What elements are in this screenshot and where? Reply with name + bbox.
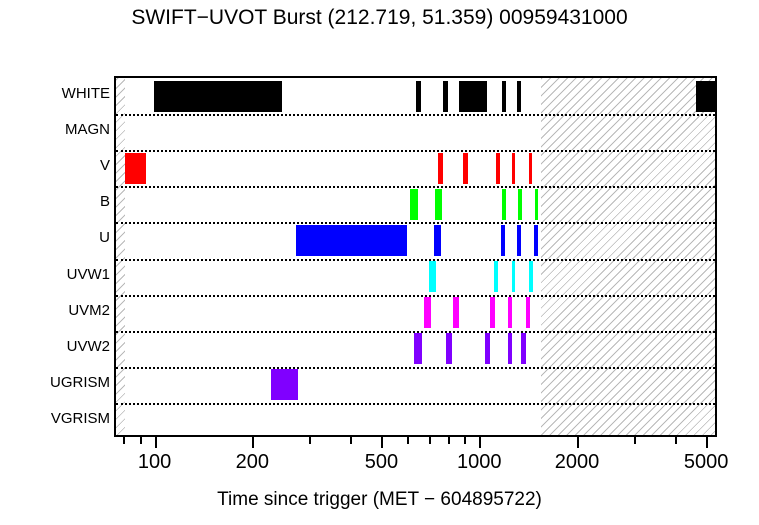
data-bar — [508, 333, 512, 364]
data-bar — [424, 297, 431, 328]
data-bar — [501, 225, 505, 256]
x-tick-minor — [464, 437, 466, 444]
data-bar — [494, 261, 498, 292]
data-bar — [459, 81, 487, 112]
data-bar — [696, 81, 715, 112]
x-tick-major — [706, 437, 708, 448]
data-bar — [535, 189, 539, 220]
data-bar — [521, 333, 525, 364]
data-bar — [518, 189, 522, 220]
data-bar — [529, 261, 533, 292]
data-bar — [453, 297, 459, 328]
row-gridline — [116, 222, 715, 224]
x-axis-title: Time since trigger (MET − 604895722) — [0, 489, 759, 511]
x-tick-label-100: 100 — [138, 451, 171, 474]
data-bar — [529, 153, 532, 184]
x-tick-major — [252, 437, 254, 448]
data-bar — [429, 261, 436, 292]
data-bar — [534, 225, 538, 256]
data-bar — [512, 261, 516, 292]
data-bar — [446, 333, 452, 364]
plot-inner — [116, 78, 715, 435]
data-bar — [271, 369, 298, 400]
row-gridline — [116, 259, 715, 261]
x-tick-major — [577, 437, 579, 448]
data-bar — [414, 333, 422, 364]
data-bar — [502, 189, 506, 220]
y-axis-label-ugrism: UGRISM — [2, 375, 110, 390]
data-bar — [526, 297, 530, 328]
row-gridline — [116, 367, 715, 369]
y-axis-labels: WHITEMAGNVBUUVW1UVM2UVW2UGRISMVGRISM — [0, 76, 110, 437]
y-axis-label-white: WHITE — [2, 86, 110, 101]
data-bar — [434, 225, 441, 256]
chart-container: SWIFT−UVOT Burst (212.719, 51.359) 00959… — [0, 0, 759, 525]
data-bar — [125, 153, 146, 184]
row-gridline — [116, 150, 715, 152]
data-bar — [517, 81, 521, 112]
x-tick-minor — [309, 437, 311, 444]
x-axis-ticks — [114, 437, 717, 449]
y-axis-label-u: U — [2, 230, 110, 245]
data-bar — [416, 81, 421, 112]
data-bar — [410, 189, 418, 220]
x-tick-label-500: 500 — [365, 451, 398, 474]
x-tick-minor — [350, 437, 352, 444]
x-tick-major — [381, 437, 383, 448]
x-tick-minor — [407, 437, 409, 444]
chart-title: SWIFT−UVOT Burst (212.719, 51.359) 00959… — [0, 6, 759, 30]
x-tick-minor — [675, 437, 677, 444]
hatched-region — [541, 78, 715, 435]
x-tick-minor — [123, 437, 125, 444]
data-bar — [508, 297, 512, 328]
data-bar — [154, 81, 283, 112]
data-bar — [443, 81, 448, 112]
data-bar — [438, 153, 444, 184]
y-axis-label-b: B — [2, 194, 110, 209]
plot-area — [114, 76, 717, 437]
y-axis-label-magn: MAGN — [2, 122, 110, 137]
x-tick-label-2000: 2000 — [555, 451, 600, 474]
x-tick-label-200: 200 — [236, 451, 269, 474]
data-bar — [463, 153, 468, 184]
x-tick-major — [155, 437, 157, 448]
x-tick-label-1000: 1000 — [457, 451, 502, 474]
y-axis-label-uvw1: UVW1 — [2, 267, 110, 282]
x-tick-label-5000: 5000 — [684, 451, 729, 474]
data-bar — [296, 225, 407, 256]
row-gridline — [116, 295, 715, 297]
y-axis-label-uvm2: UVM2 — [2, 303, 110, 318]
x-tick-minor — [634, 437, 636, 444]
data-bar — [517, 225, 521, 256]
data-bar — [496, 153, 500, 184]
x-tick-minor — [448, 437, 450, 444]
x-tick-minor — [140, 437, 142, 444]
data-bar — [490, 297, 495, 328]
data-bar — [485, 333, 490, 364]
y-axis-label-v: V — [2, 158, 110, 173]
y-axis-label-uvw2: UVW2 — [2, 339, 110, 354]
row-gridline — [116, 403, 715, 405]
row-gridline — [116, 114, 715, 116]
data-bar — [512, 153, 515, 184]
hatched-region — [116, 78, 125, 435]
data-bar — [435, 189, 442, 220]
x-tick-major — [479, 437, 481, 448]
y-axis-label-vgrism: VGRISM — [2, 411, 110, 426]
x-tick-minor — [429, 437, 431, 444]
data-bar — [502, 81, 506, 112]
